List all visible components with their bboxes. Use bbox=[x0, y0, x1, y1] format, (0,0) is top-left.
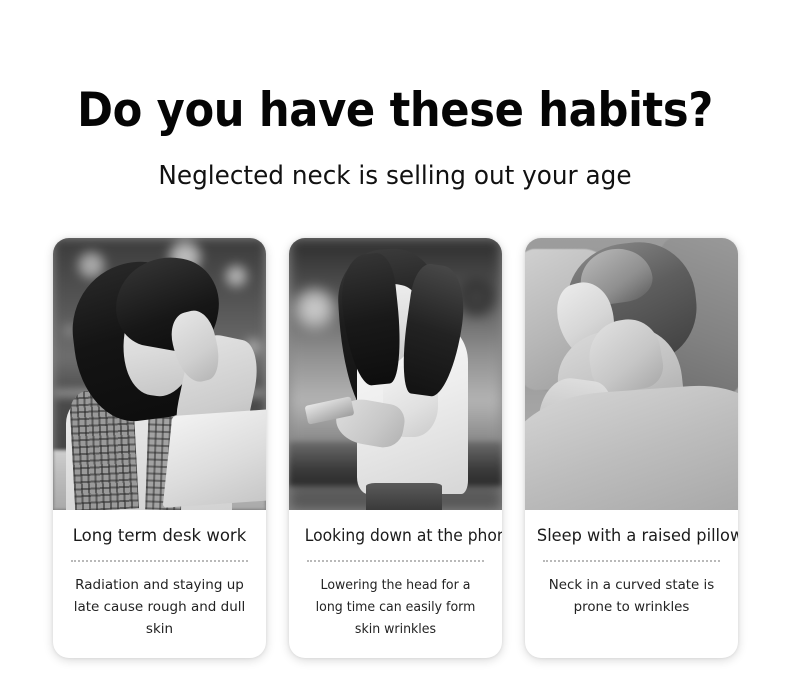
habit-card-raised-pillow[interactable]: Sleep with a raised pillow Neck in a cur… bbox=[525, 238, 738, 658]
habit-image-desk-work bbox=[53, 238, 266, 510]
habit-card-looking-at-phone[interactable]: Looking down at the phone Lowering the h… bbox=[289, 238, 502, 658]
habit-card-text: Long term desk work Radiation and stayin… bbox=[53, 510, 266, 658]
habit-image-raised-pillow bbox=[525, 238, 738, 510]
page-subtitle: Neglected neck is selling out your age bbox=[20, 162, 771, 191]
page-root: Do you have these habits? Neglected neck… bbox=[0, 0, 790, 677]
habit-card-description: Neck in a curved state is prone to wrink… bbox=[536, 575, 727, 619]
habit-card-description: Radiation and staying up late cause roug… bbox=[63, 575, 256, 641]
habit-card-title: Long term desk work bbox=[63, 526, 256, 546]
skirt bbox=[366, 483, 443, 510]
habit-card-title: Sleep with a raised pillow bbox=[537, 526, 726, 546]
habit-card-text: Looking down at the phone Lowering the h… bbox=[289, 510, 502, 658]
habit-card-list: Long term desk work Radiation and stayin… bbox=[53, 238, 738, 658]
habit-card-desk-work[interactable]: Long term desk work Radiation and stayin… bbox=[53, 238, 266, 658]
scene-looking-at-phone bbox=[289, 238, 502, 510]
scene-desk-work bbox=[53, 238, 266, 510]
header: Do you have these habits? Neglected neck… bbox=[0, 86, 790, 190]
scene-sleeping bbox=[525, 238, 738, 510]
habit-card-text: Sleep with a raised pillow Neck in a cur… bbox=[525, 510, 738, 637]
habit-image-looking-at-phone bbox=[289, 238, 502, 510]
dotted-divider bbox=[543, 560, 720, 562]
habit-card-title: Looking down at the phone bbox=[305, 526, 486, 546]
habit-card-description: Lowering the head for a long time can ea… bbox=[306, 575, 485, 641]
laptop bbox=[163, 408, 266, 508]
dotted-divider bbox=[307, 560, 484, 562]
dotted-divider bbox=[71, 560, 248, 562]
page-title: Do you have these habits? bbox=[32, 86, 759, 136]
